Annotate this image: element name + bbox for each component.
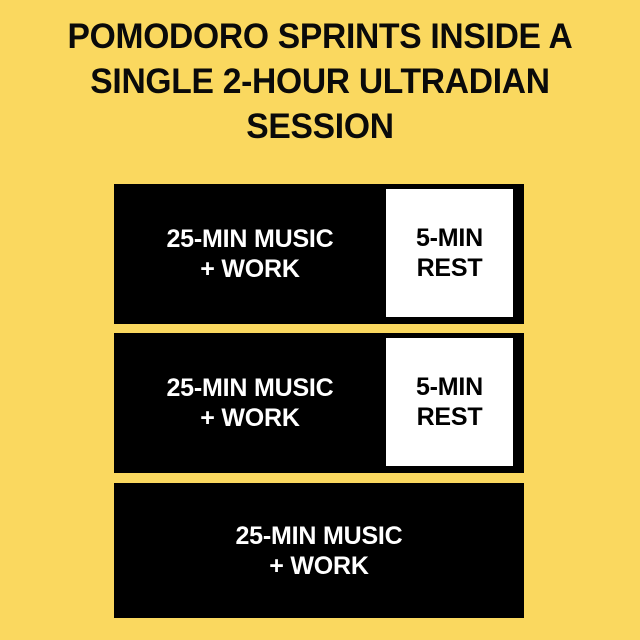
rest-label-line-2: REST: [417, 253, 483, 283]
title-line-2: SINGLE 2-HOUR ULTRADIAN: [13, 59, 627, 104]
page-title: POMODORO SPRINTS INSIDE A SINGLE 2-HOUR …: [0, 14, 640, 149]
work-block-1: 25-MIN MUSIC + WORK: [114, 184, 386, 324]
work-label-line-1: 25-MIN MUSIC: [166, 224, 333, 254]
work-label-line-2: + WORK: [269, 551, 369, 581]
rest-label-line-2: REST: [417, 402, 483, 432]
work-block-3: 25-MIN MUSIC + WORK: [114, 483, 524, 618]
work-label-line-2: + WORK: [200, 254, 300, 284]
rest-label-line-1: 5-MIN: [416, 372, 483, 402]
pomodoro-infographic: POMODORO SPRINTS INSIDE A SINGLE 2-HOUR …: [0, 0, 640, 640]
title-line-1: POMODORO SPRINTS INSIDE A: [13, 14, 627, 59]
work-label-line-1: 25-MIN MUSIC: [235, 521, 402, 551]
sprint-row-1: 25-MIN MUSIC + WORK 5-MIN REST: [114, 184, 524, 324]
sprint-row-2: 25-MIN MUSIC + WORK 5-MIN REST: [114, 333, 524, 473]
rest-block-2: 5-MIN REST: [386, 338, 513, 466]
work-label-line-1: 25-MIN MUSIC: [166, 373, 333, 403]
sprint-row-3: 25-MIN MUSIC + WORK: [114, 483, 524, 618]
work-label-line-2: + WORK: [200, 403, 300, 433]
rest-block-1: 5-MIN REST: [386, 189, 513, 317]
title-line-3: SESSION: [13, 104, 627, 149]
work-block-2: 25-MIN MUSIC + WORK: [114, 333, 386, 473]
rest-label-line-1: 5-MIN: [416, 223, 483, 253]
